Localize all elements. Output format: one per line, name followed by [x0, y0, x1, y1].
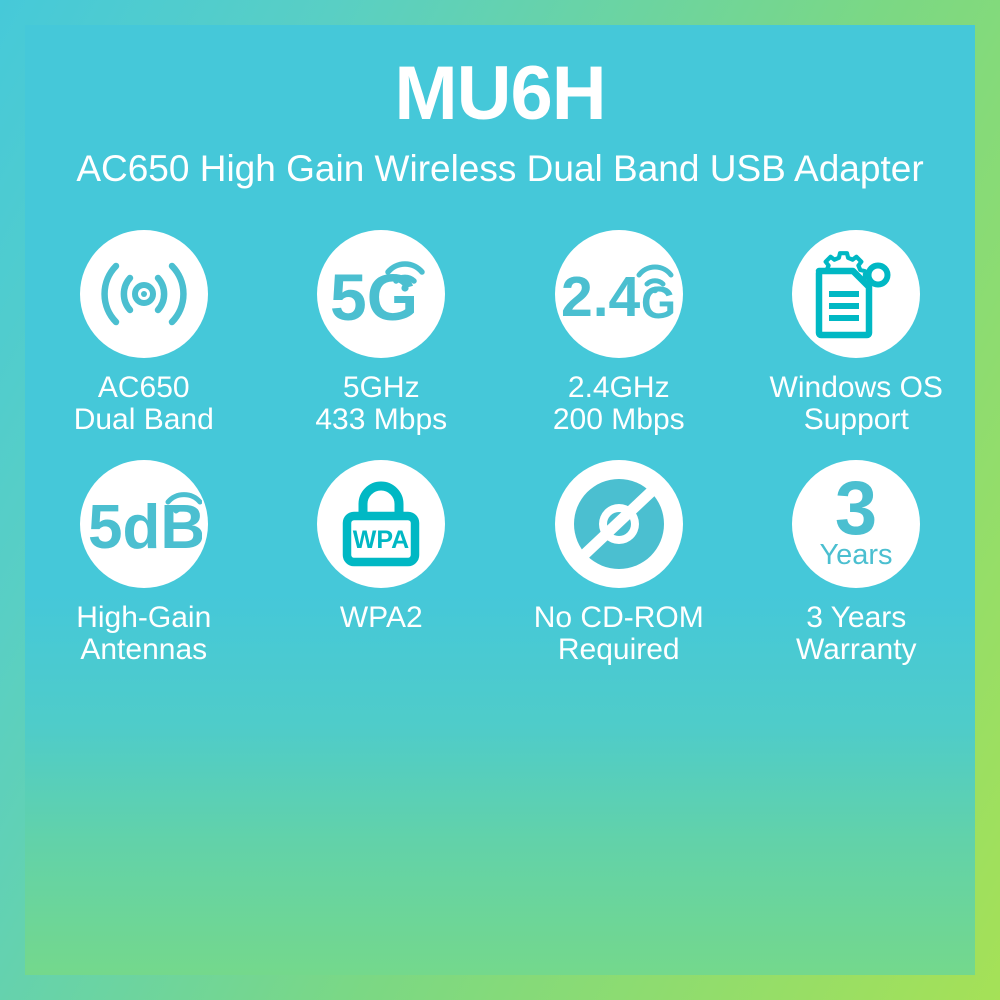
- feature-caption: No CD-ROM Required: [534, 602, 704, 666]
- feature-no-cdrom: No CD-ROM Required: [500, 460, 738, 666]
- padlock-wpa-icon: WPA: [335, 476, 427, 572]
- feature-caption: 2.4GHz 200 Mbps: [553, 372, 685, 436]
- badge-circle: 3 Years: [792, 460, 920, 588]
- content-panel: MU6H AC650 High Gain Wireless Dual Band …: [25, 25, 975, 975]
- feature-windows-os-support: Windows OS Support: [738, 230, 976, 436]
- header: MU6H AC650 High Gain Wireless Dual Band …: [25, 25, 975, 191]
- document-gear-icon: [807, 247, 905, 341]
- 24g-icon-text: 2.4: [561, 265, 641, 329]
- 5g-icon-text: 5G: [330, 260, 418, 334]
- feature-caption: Windows OS Support: [770, 372, 943, 436]
- infographic-canvas: MU6H AC650 High Gain Wireless Dual Band …: [0, 0, 1000, 1000]
- three-years-icon: 3 Years: [801, 472, 911, 576]
- 5g-wifi-icon: 5G: [326, 246, 436, 342]
- badge-circle: 2.4 G: [555, 230, 683, 358]
- feature-caption: WPA2: [340, 602, 423, 634]
- feature-caption: 5GHz 433 Mbps: [315, 372, 447, 436]
- page-subtitle: AC650 High Gain Wireless Dual Band USB A…: [25, 137, 975, 191]
- feature-caption: AC650 Dual Band: [74, 372, 214, 436]
- feature-5ghz: 5G 5GHz 433 Mbps: [263, 230, 501, 436]
- feature-wpa2: WPA WPA2: [263, 460, 501, 666]
- years-icon-text: Years: [820, 539, 893, 571]
- feature-3-years-warranty: 3 Years 3 Years Warranty: [738, 460, 976, 666]
- no-cdrom-icon: [555, 460, 683, 588]
- feature-grid: AC650 Dual Band 5G: [25, 230, 975, 666]
- feature-high-gain-antennas: 5dBi High-Gain Antennas: [25, 460, 263, 666]
- feature-caption: 3 Years Warranty: [796, 602, 917, 666]
- page-title: MU6H: [25, 25, 975, 137]
- badge-circle: [555, 460, 683, 588]
- badge-circle: 5dBi: [80, 460, 208, 588]
- wireless-signal-icon: [96, 246, 192, 342]
- feature-24ghz: 2.4 G 2.4GHz 200 Mbps: [500, 230, 738, 436]
- feature-ac650-dual-band: AC650 Dual Band: [25, 230, 263, 436]
- badge-circle: [792, 230, 920, 358]
- 2.4g-wifi-icon: 2.4 G: [559, 246, 679, 342]
- badge-circle: WPA: [317, 460, 445, 588]
- 5dbi-icon-text: 5dBi: [88, 493, 202, 562]
- badge-circle: [80, 230, 208, 358]
- 5dbi-wifi-icon: 5dBi: [86, 476, 202, 572]
- feature-caption: High-Gain Antennas: [76, 602, 211, 666]
- badge-circle: 5G: [317, 230, 445, 358]
- wpa-icon-text: WPA: [353, 526, 409, 554]
